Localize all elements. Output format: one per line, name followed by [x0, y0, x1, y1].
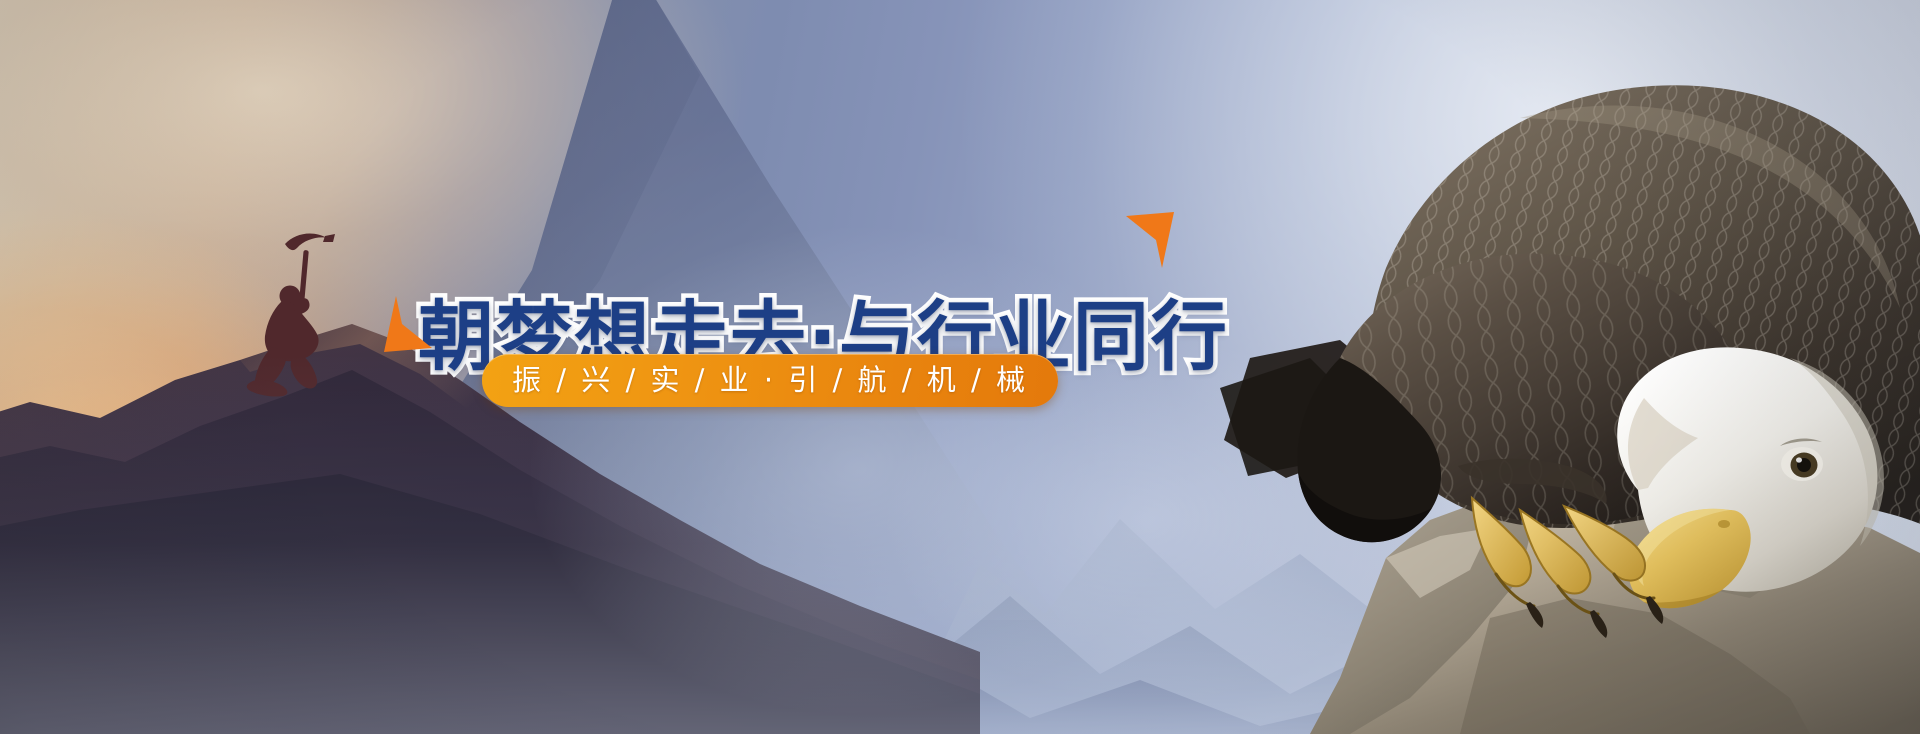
tagline-badge: 振 / 兴 / 实 / 业 · 引 / 航 / 机 / 械 [482, 354, 1058, 407]
badge-row: 振 / 兴 / 实 / 业 · 引 / 航 / 机 / 械 [400, 354, 1140, 407]
hero-banner: 朝梦想走去·与行业同行 振 / 兴 / 实 / 业 · 引 / 航 / 机 / … [0, 0, 1920, 734]
banner-content: 朝梦想走去·与行业同行 振 / 兴 / 实 / 业 · 引 / 航 / 机 / … [0, 236, 1920, 407]
corner-bracket-bottom-left-icon [382, 294, 434, 354]
headline-row: 朝梦想走去·与行业同行 [400, 236, 1140, 340]
corner-bracket-top-right-icon [1124, 210, 1176, 270]
